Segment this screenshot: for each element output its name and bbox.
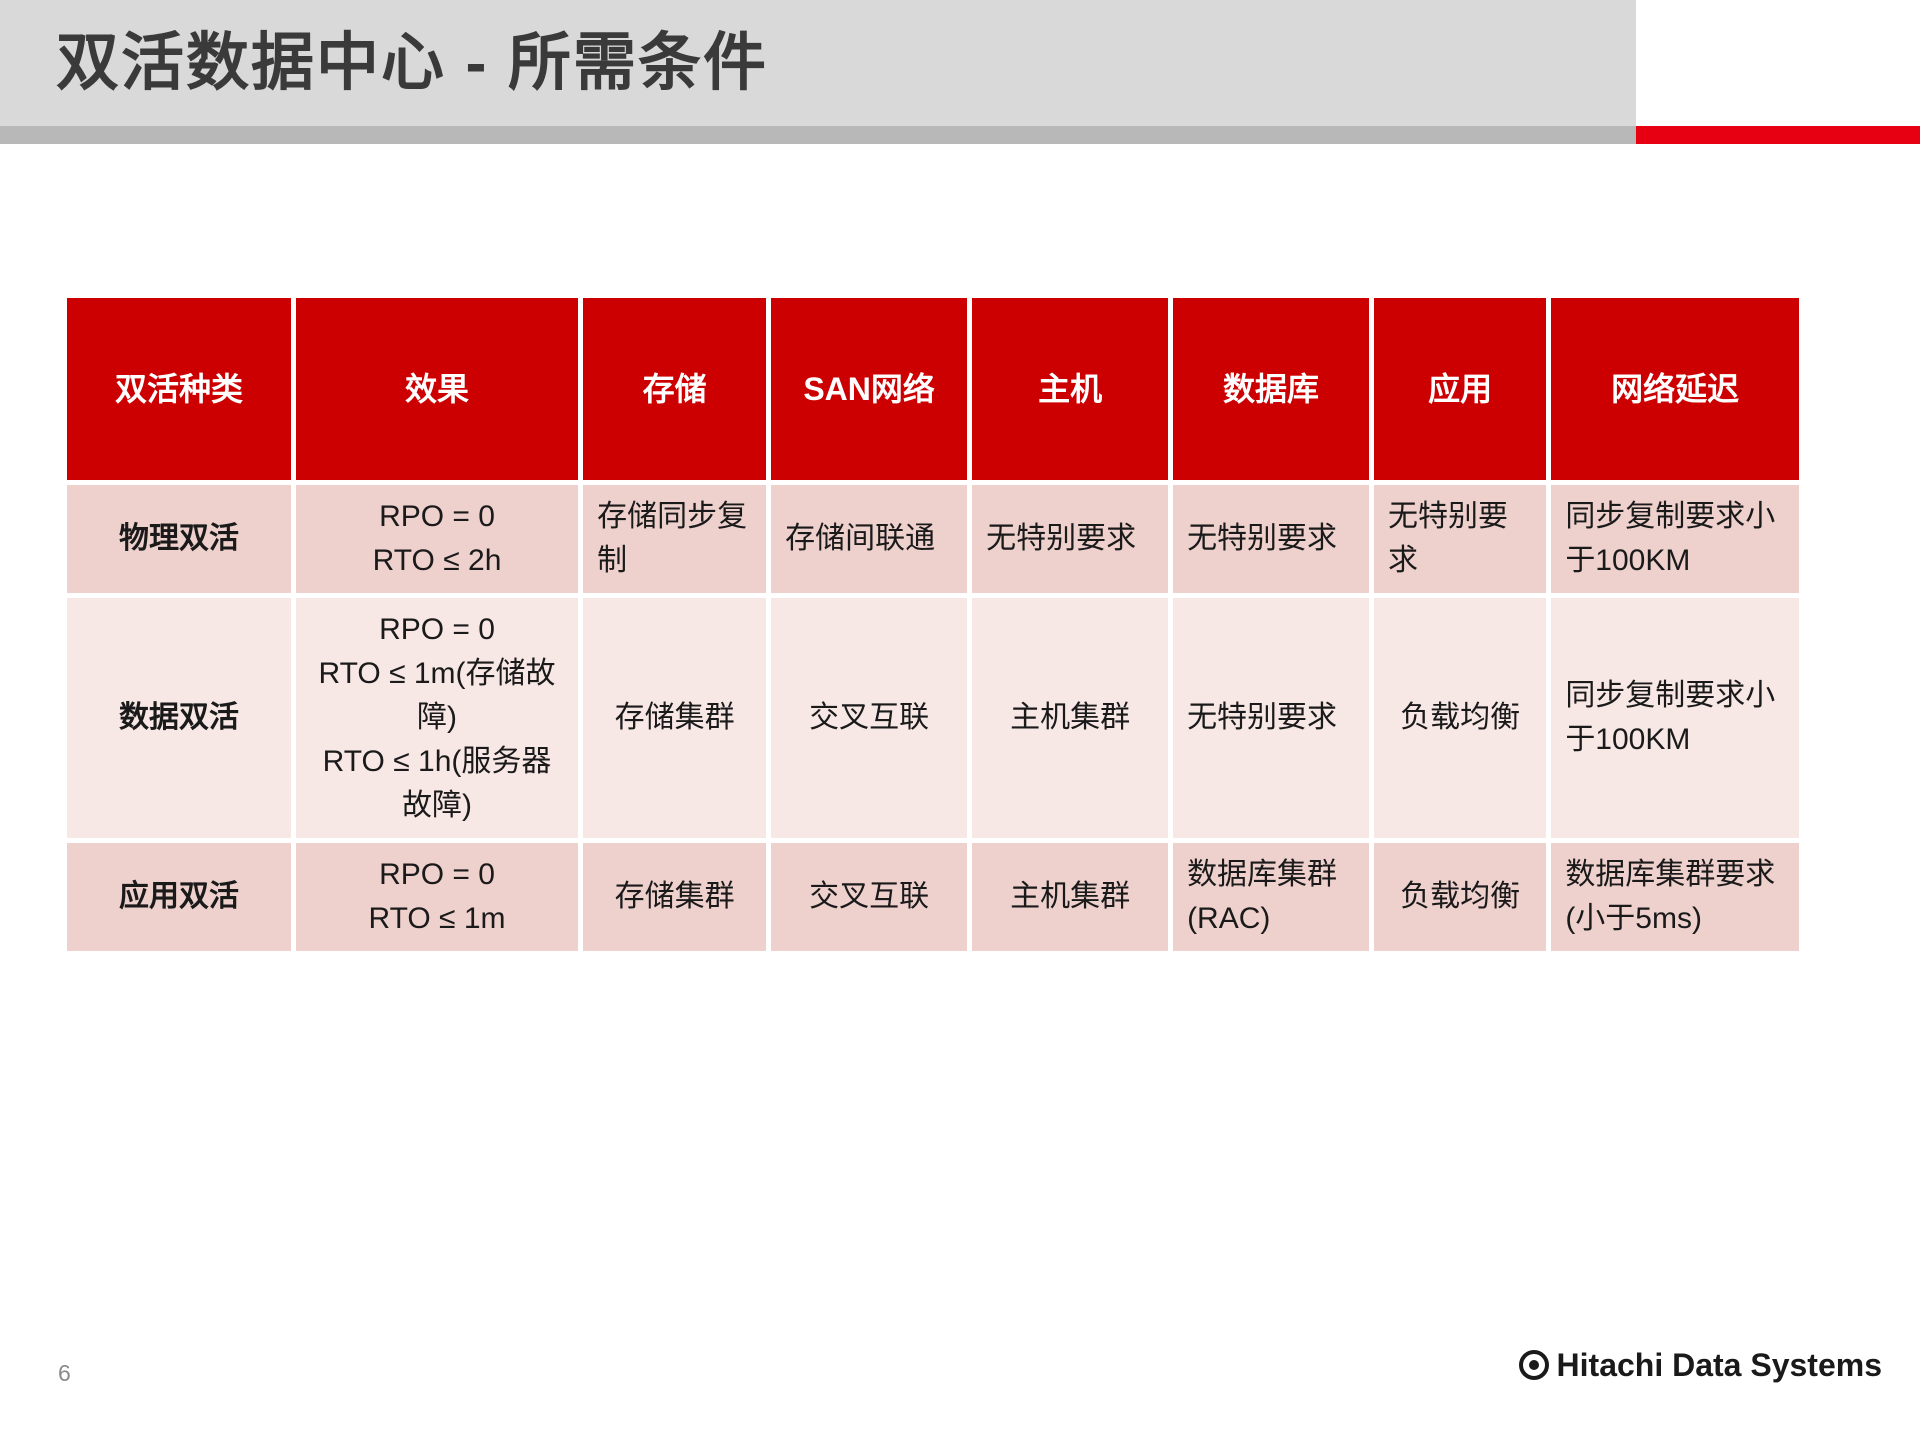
cell-san: 交叉互联 (771, 843, 967, 951)
cell-type: 应用双活 (67, 843, 291, 951)
cell-latency: 数据库集群要求(小于5ms) (1551, 843, 1799, 951)
cell-application: 无特别要求 (1374, 485, 1546, 593)
cell-host: 主机集群 (972, 598, 1168, 838)
cell-application: 负载均衡 (1374, 598, 1546, 838)
slide: 双活数据中心 - 所需条件 HITACHI Inspire the Next 双… (0, 0, 1920, 1440)
column-header-type: 双活种类 (67, 298, 291, 480)
column-header-host: 主机 (972, 298, 1168, 480)
header-underline-red (1636, 126, 1920, 144)
cell-database: 无特别要求 (1173, 485, 1369, 593)
requirements-table-wrap: 双活种类 效果 存储 SAN网络 主机 数据库 应用 网络延迟 物理双活 RPO… (62, 293, 1804, 956)
hds-brand-text: Hitachi Data Systems (1557, 1348, 1882, 1382)
cell-database: 无特别要求 (1173, 598, 1369, 838)
cell-type: 数据双活 (67, 598, 291, 838)
table-row: 应用双活 RPO = 0RTO ≤ 1m 存储集群 交叉互联 主机集群 数据库集… (67, 843, 1799, 951)
page-title: 双活数据中心 - 所需条件 (56, 16, 768, 110)
cell-effect: RPO = 0RTO ≤ 1m(存储故障)RTO ≤ 1h(服务器故障) (296, 598, 578, 838)
cell-latency: 同步复制要求小于100KM (1551, 485, 1799, 593)
table-row: 数据双活 RPO = 0RTO ≤ 1m(存储故障)RTO ≤ 1h(服务器故障… (67, 598, 1799, 838)
cell-storage: 存储集群 (583, 598, 766, 838)
cell-storage: 存储同步复制 (583, 485, 766, 593)
cell-effect: RPO = 0RTO ≤ 2h (296, 485, 578, 593)
column-header-san: SAN网络 (771, 298, 967, 480)
column-header-storage: 存储 (583, 298, 766, 480)
cell-database: 数据库集群(RAC) (1173, 843, 1369, 951)
header-underline-gray (0, 126, 1636, 144)
column-header-application: 应用 (1374, 298, 1546, 480)
table-header-row: 双活种类 效果 存储 SAN网络 主机 数据库 应用 网络延迟 (67, 298, 1799, 480)
column-header-database: 数据库 (1173, 298, 1369, 480)
cell-latency: 同步复制要求小于100KM (1551, 598, 1799, 838)
cell-type: 物理双活 (67, 485, 291, 593)
cell-san: 存储间联通 (771, 485, 967, 593)
hds-emblem-icon (1519, 1350, 1549, 1380)
cell-storage: 存储集群 (583, 843, 766, 951)
cell-san: 交叉互联 (771, 598, 967, 838)
hitachi-logo-panel: HITACHI Inspire the Next (1636, 0, 1920, 126)
cell-application: 负载均衡 (1374, 843, 1546, 951)
requirements-table: 双活种类 效果 存储 SAN网络 主机 数据库 应用 网络延迟 物理双活 RPO… (62, 293, 1804, 956)
hds-footer-logo: Hitachi Data Systems (1519, 1348, 1882, 1382)
cell-host: 主机集群 (972, 843, 1168, 951)
cell-host: 无特别要求 (972, 485, 1168, 593)
page-number: 6 (58, 1360, 71, 1386)
cell-effect: RPO = 0RTO ≤ 1m (296, 843, 578, 951)
table-row: 物理双活 RPO = 0RTO ≤ 2h 存储同步复制 存储间联通 无特别要求 … (67, 485, 1799, 593)
column-header-effect: 效果 (296, 298, 578, 480)
column-header-latency: 网络延迟 (1551, 298, 1799, 480)
